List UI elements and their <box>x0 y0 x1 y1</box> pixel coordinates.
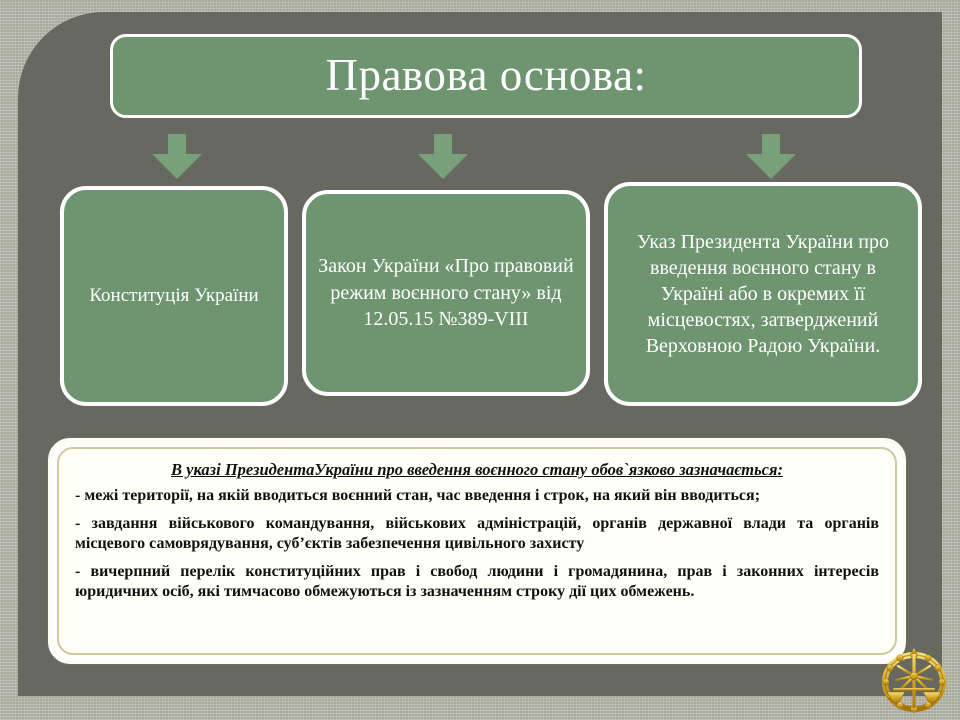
note-panel-inner: В указі ПрезидентаУкраїни про введення в… <box>57 447 897 655</box>
note-item: - вичерпний перелік конституційних прав … <box>75 562 879 601</box>
note-item: - межі території, на якій вводиться воєн… <box>75 486 879 506</box>
card-decree: Указ Президента України про введення воє… <box>604 182 922 406</box>
card-constitution-text: Конституція України <box>89 283 258 308</box>
down-arrow-icon <box>414 134 472 180</box>
scales-of-justice-emblem-icon <box>876 646 952 714</box>
slide-title-box: Правова основа: <box>110 34 862 118</box>
card-law-text: Закон України «Про правовий режим воєнно… <box>318 253 574 333</box>
note-panel: В указі ПрезидентаУкраїни про введення в… <box>48 438 906 664</box>
card-constitution: Конституція України <box>60 186 288 406</box>
down-arrow-icon <box>148 134 206 180</box>
card-law: Закон України «Про правовий режим воєнно… <box>302 190 590 396</box>
page-title: Правова основа: <box>325 52 646 99</box>
note-heading: В указі ПрезидентаУкраїни про введення в… <box>75 460 879 480</box>
down-arrow-icon <box>742 134 800 180</box>
card-decree-text: Указ Президента України про введення воє… <box>620 229 906 359</box>
slide-root: Правова основа: Конституція України Зако… <box>0 0 960 720</box>
note-item: - завдання військового командування, вій… <box>75 514 879 553</box>
